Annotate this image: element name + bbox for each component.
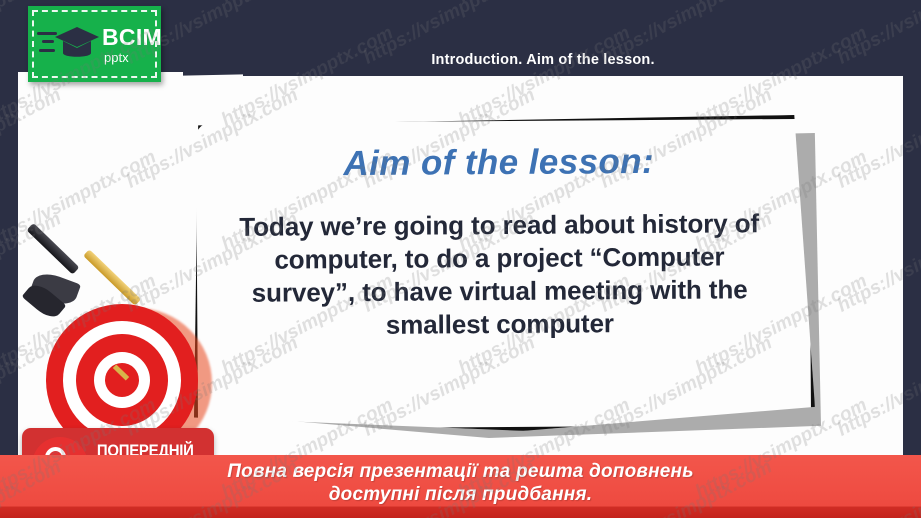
logo-sub-text: pptx [104, 51, 129, 64]
brand-logo[interactable]: BCIM pptx [28, 6, 161, 82]
header-bar: Introduction. Aim of the lesson. [183, 43, 903, 76]
purchase-banner-text: Повна версія презентації та решта доповн… [227, 461, 693, 507]
logo-speedline-icon [39, 49, 55, 52]
aim-body-text: Today we’re going to read about history … [229, 207, 770, 343]
frame-left-edge [0, 0, 18, 518]
content-box: Aim of the lesson: Today we’re going to … [192, 115, 807, 425]
graduation-cap-icon [54, 25, 100, 65]
aim-title: Aim of the lesson: [343, 142, 654, 184]
header-bar-torn-edge [183, 74, 243, 82]
page-title: Introduction. Aim of the lesson. [431, 52, 654, 68]
slide-root: Introduction. Aim of the lesson. BCIM pp… [0, 0, 921, 518]
logo-brand-text: BCIM [102, 26, 161, 49]
dartboard-bullseye [105, 363, 139, 397]
logo-speedline-icon [42, 40, 54, 43]
purchase-banner-line2: доступні після придбання. [329, 484, 593, 505]
frame-right-edge [903, 0, 921, 518]
purchase-banner: Повна версія презентації та решта доповн… [0, 455, 921, 518]
purchase-banner-line1: Повна версія презентації та решта доповн… [227, 461, 693, 482]
